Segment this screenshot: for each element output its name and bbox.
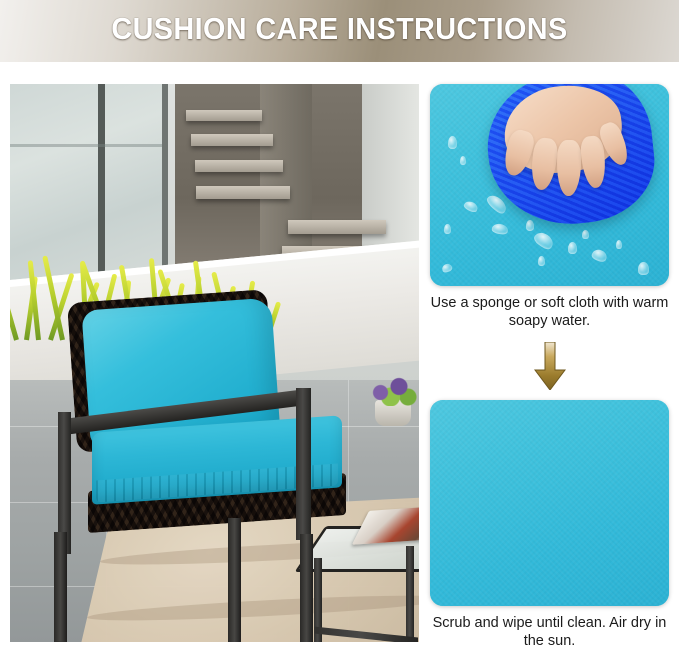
step-1-image: [430, 84, 669, 286]
lavender-plant: [368, 376, 418, 406]
arm-post: [296, 388, 311, 540]
chair-leg: [300, 534, 313, 642]
page-title: CUSHION CARE INSTRUCTIONS: [24, 11, 655, 47]
header-divider: [0, 62, 679, 72]
water-droplet: [448, 136, 457, 149]
water-droplet: [568, 242, 577, 254]
page-header: CUSHION CARE INSTRUCTIONS: [0, 0, 679, 62]
stair-step: [186, 110, 262, 121]
stair-step: [191, 134, 273, 146]
hero-product-photo: EASY TO CLEAN: [10, 84, 419, 642]
finger: [557, 140, 582, 196]
water-droplet: [460, 156, 466, 165]
water-droplet: [538, 256, 545, 266]
stair-step: [196, 186, 290, 199]
patio-chair: [38, 296, 368, 642]
care-steps-column: Use a sponge or soft cloth with warm soa…: [430, 84, 669, 642]
hand: [496, 84, 636, 198]
stair-step: [288, 220, 386, 234]
water-droplet: [444, 224, 451, 234]
table-leg: [406, 546, 414, 638]
water-droplet: [638, 262, 649, 275]
water-droplet: [616, 240, 622, 249]
clean-cushion-surface: [430, 400, 669, 606]
water-droplet: [526, 220, 534, 231]
patio-scene: [10, 84, 419, 642]
down-arrow-icon: [533, 342, 567, 390]
water-droplet: [582, 230, 589, 239]
step-2-caption: Scrub and wipe until clean. Air dry in t…: [430, 614, 669, 650]
chair-leg: [54, 532, 67, 642]
step-1-caption: Use a sponge or soft cloth with warm soa…: [430, 294, 669, 330]
stair-step: [195, 160, 283, 172]
step-2-image: [430, 400, 669, 606]
chair-leg: [228, 518, 241, 642]
